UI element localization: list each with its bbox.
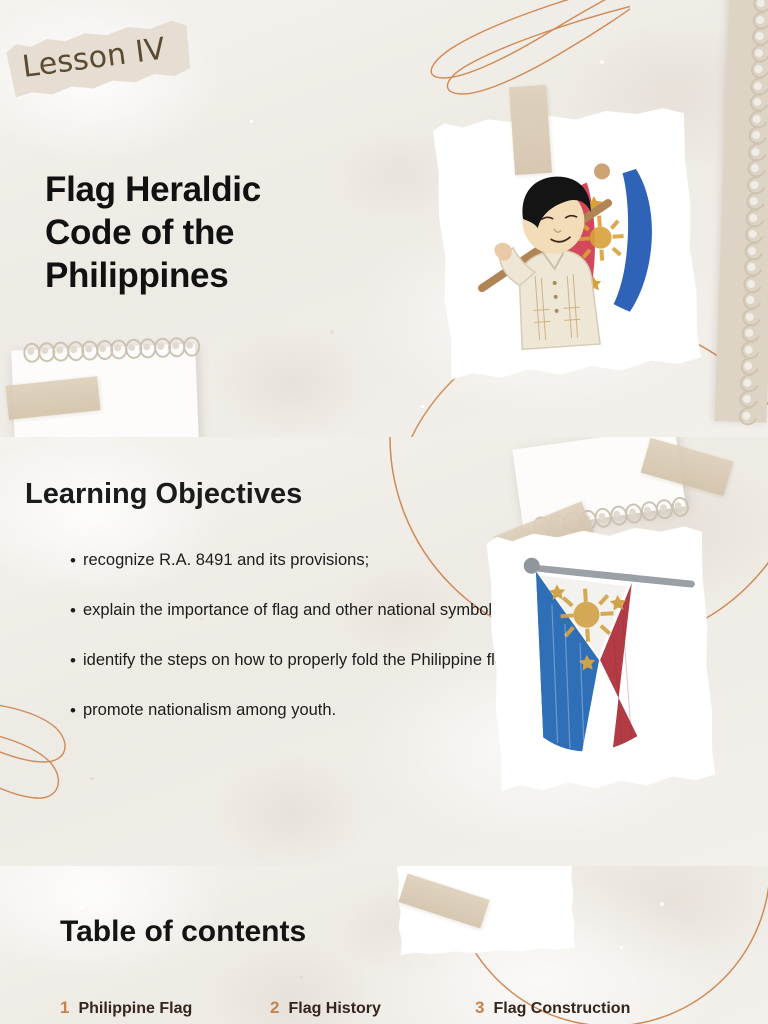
page-title-line-1: Flag Heraldic: [45, 168, 375, 211]
section-heading: Learning Objectives: [25, 478, 302, 511]
toc-item-number: 1: [60, 998, 69, 1018]
texture-speck: [90, 777, 94, 780]
slide-learning-objectives: Learning Objectives • recognize R.A. 849…: [0, 437, 768, 866]
list-item-label: promote nationalism among youth.: [83, 698, 525, 723]
texture-speck: [600, 60, 604, 64]
image-card-boy-with-flag: [432, 106, 702, 383]
list-item: • recognize R.A. 8491 and its provisions…: [70, 548, 525, 573]
bullet-dot-icon: •: [70, 548, 83, 573]
texture-speck: [330, 330, 334, 334]
texture-speck: [250, 120, 253, 123]
objectives-list: • recognize R.A. 8491 and its provisions…: [70, 548, 525, 748]
slide-deck-page: Lesson IV Flag Heraldic Code of the Phil…: [0, 0, 768, 1024]
toc-item-label: Philippine Flag: [78, 1000, 192, 1018]
texture-speck: [80, 906, 84, 909]
bullet-dot-icon: •: [70, 648, 83, 673]
list-item: • identify the steps on how to properly …: [70, 648, 525, 673]
toc-list: 1 Philippine Flag 2 Flag History 3 Flag …: [60, 998, 760, 1018]
toc-item-flag-construction[interactable]: 3 Flag Construction: [475, 998, 630, 1018]
list-item-label: explain the importance of flag and other…: [83, 598, 525, 623]
page-title-line-3: Philippines: [45, 254, 375, 297]
toc-item-philippine-flag[interactable]: 1 Philippine Flag: [60, 998, 270, 1018]
toc-item-number: 2: [270, 998, 279, 1018]
hanging-philippine-flag-icon: [497, 537, 708, 782]
toc-item-number: 3: [475, 998, 484, 1018]
bullet-dot-icon: •: [70, 698, 83, 723]
texture-speck: [660, 902, 664, 906]
tape-strip: [509, 85, 552, 175]
texture-speck: [420, 405, 425, 408]
list-item-label: identify the steps on how to properly fo…: [83, 648, 525, 673]
slide-title: Lesson IV Flag Heraldic Code of the Phil…: [0, 0, 768, 437]
section-heading: Table of contents: [60, 915, 306, 949]
toc-item-label: Flag History: [288, 1000, 380, 1018]
slide-table-of-contents: Table of contents 1 Philippine Flag 2 Fl…: [0, 866, 768, 1024]
list-item-label: recognize R.A. 8491 and its provisions;: [83, 548, 525, 573]
page-title-line-2: Code of the: [45, 211, 375, 254]
image-card-hanging-flag: [486, 524, 716, 794]
toc-item-flag-history[interactable]: 2 Flag History: [270, 998, 475, 1018]
bullet-dot-icon: •: [70, 598, 83, 623]
boy-with-flag-icon: [447, 124, 686, 367]
texture-speck: [300, 976, 303, 979]
list-item: • explain the importance of flag and oth…: [70, 598, 525, 623]
notepad-ring-icon: [182, 336, 200, 357]
toc-item-label: Flag Construction: [493, 1000, 630, 1018]
texture-speck: [620, 946, 623, 949]
list-item: • promote nationalism among youth.: [70, 698, 525, 723]
page-title: Flag Heraldic Code of the Philippines: [45, 168, 375, 297]
